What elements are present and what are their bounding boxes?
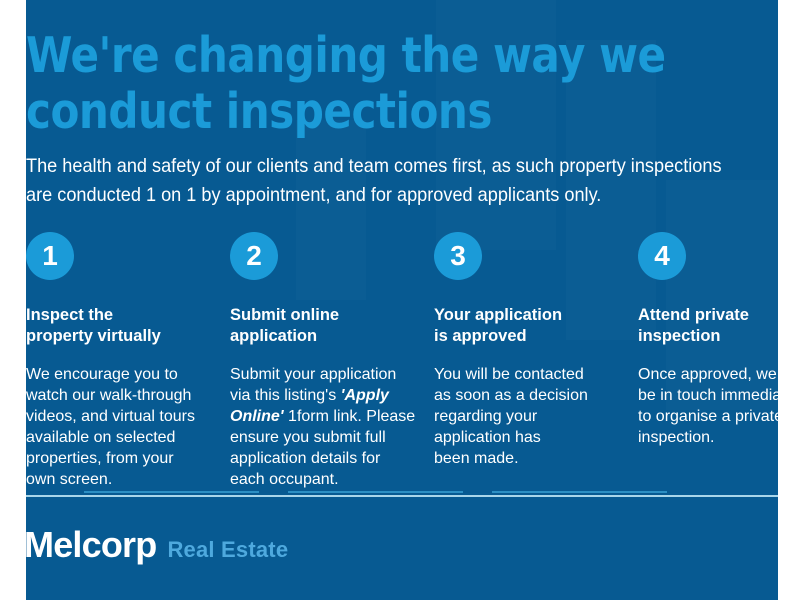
step-heading-2: Submit online application: [230, 305, 420, 347]
poster-panel: We're changing the way we conduct inspec…: [26, 0, 778, 600]
poster-intro-paragraph: The health and safety of our clients and…: [26, 152, 778, 210]
step-body-3: You will be contacted as soon as a decis…: [434, 364, 624, 469]
step-item-3: 3 Your application is approved You will …: [434, 232, 624, 469]
step-track: 1 Inspect the property virtually We enco…: [26, 232, 778, 482]
step-number-badge-1: 1: [26, 232, 74, 280]
brand-logo-mark: Melcorp: [26, 524, 156, 566]
step-heading-3: Your application is approved: [434, 305, 624, 347]
step-item-1: 1 Inspect the property virtually We enco…: [26, 232, 216, 490]
poster-canvas: We're changing the way we conduct inspec…: [26, 0, 778, 600]
brand-logo: Melcorp Real Estate: [26, 524, 288, 566]
step-heading-4: Attend private inspection: [638, 305, 778, 347]
step-body-2: Submit your application via this listing…: [230, 364, 420, 490]
brand-logo-subtitle: Real Estate: [167, 537, 288, 563]
step-number-badge-2: 2: [230, 232, 278, 280]
step-number-badge-4: 4: [638, 232, 686, 280]
step-heading-1: Inspect the property virtually: [26, 305, 216, 347]
step-connector-line: [288, 491, 463, 493]
step-number-badge-3: 3: [434, 232, 482, 280]
step-body-1: We encourage you to watch our walk-throu…: [26, 364, 216, 490]
step-connector-line: [492, 491, 667, 493]
poster-headline: We're changing the way we conduct inspec…: [26, 28, 714, 140]
step-body-4: Once approved, we will be in touch immed…: [638, 364, 778, 448]
step-connector-line: [84, 491, 259, 493]
step-item-2: 2 Submit online application Submit your …: [230, 232, 420, 490]
footer-divider: [26, 495, 778, 497]
step-item-4: 4 Attend private inspection Once approve…: [638, 232, 778, 448]
